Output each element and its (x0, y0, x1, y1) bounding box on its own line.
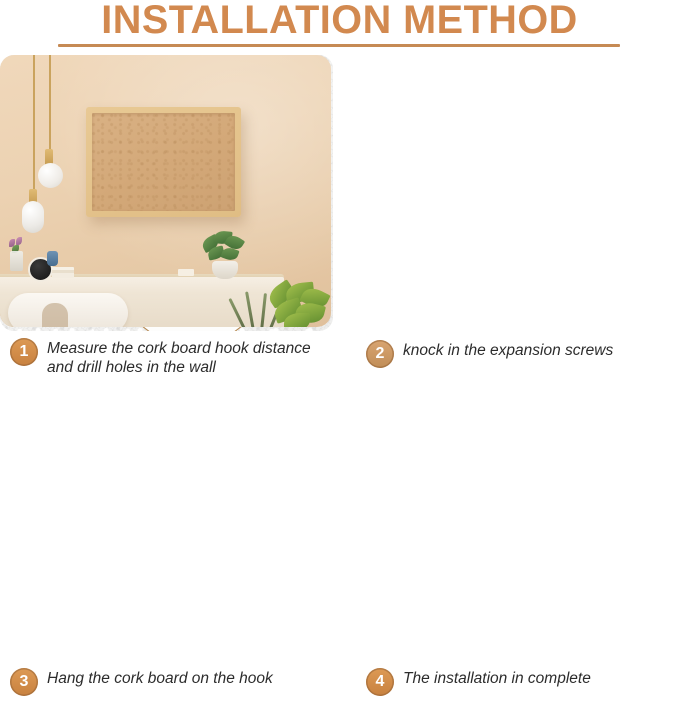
step-caption-text: knock in the expansion screws (403, 340, 613, 360)
plant-pot (212, 261, 238, 279)
step-1-caption: 1 Measure the cork board hook distance a… (10, 338, 332, 377)
header: INSTALLATION METHOD (0, 0, 679, 54)
step-4-caption: 4 The installation in complete (366, 668, 676, 696)
chair (8, 293, 128, 327)
page-title: INSTALLATION METHOD (3, 0, 675, 42)
chair-leg (42, 303, 68, 327)
mounted-cork-board (86, 107, 241, 217)
step-number-badge: 1 (10, 338, 38, 366)
step-number-badge: 2 (366, 340, 394, 368)
vase (10, 251, 23, 271)
step-caption-text: Hang the cork board on the hook (47, 668, 273, 688)
pendant-light-tall (22, 201, 44, 233)
step-number-badge: 3 (10, 668, 38, 696)
step-2-caption: 2 knock in the expansion screws (366, 340, 676, 368)
step-caption-text: Measure the cork board hook distance and… (47, 338, 332, 377)
installation-method-infographic: INSTALLATION METHOD (0, 0, 679, 703)
potted-plant (200, 231, 248, 279)
title-underline (58, 44, 620, 47)
step-3-caption: 3 Hang the cork board on the hook (10, 668, 332, 696)
step-caption-text: The installation in complete (403, 668, 591, 688)
pendant-cord (49, 55, 51, 151)
step-number-badge: 4 (366, 668, 394, 696)
cork-surface (92, 113, 235, 211)
stacked-books (52, 267, 74, 278)
small-box (178, 269, 194, 276)
pendant-cord (33, 55, 35, 191)
step-4-image (0, 55, 331, 327)
floor-plant (254, 283, 331, 327)
steps-grid (0, 55, 679, 703)
pendant-light-round (38, 163, 63, 188)
decor-bottle (47, 251, 58, 266)
